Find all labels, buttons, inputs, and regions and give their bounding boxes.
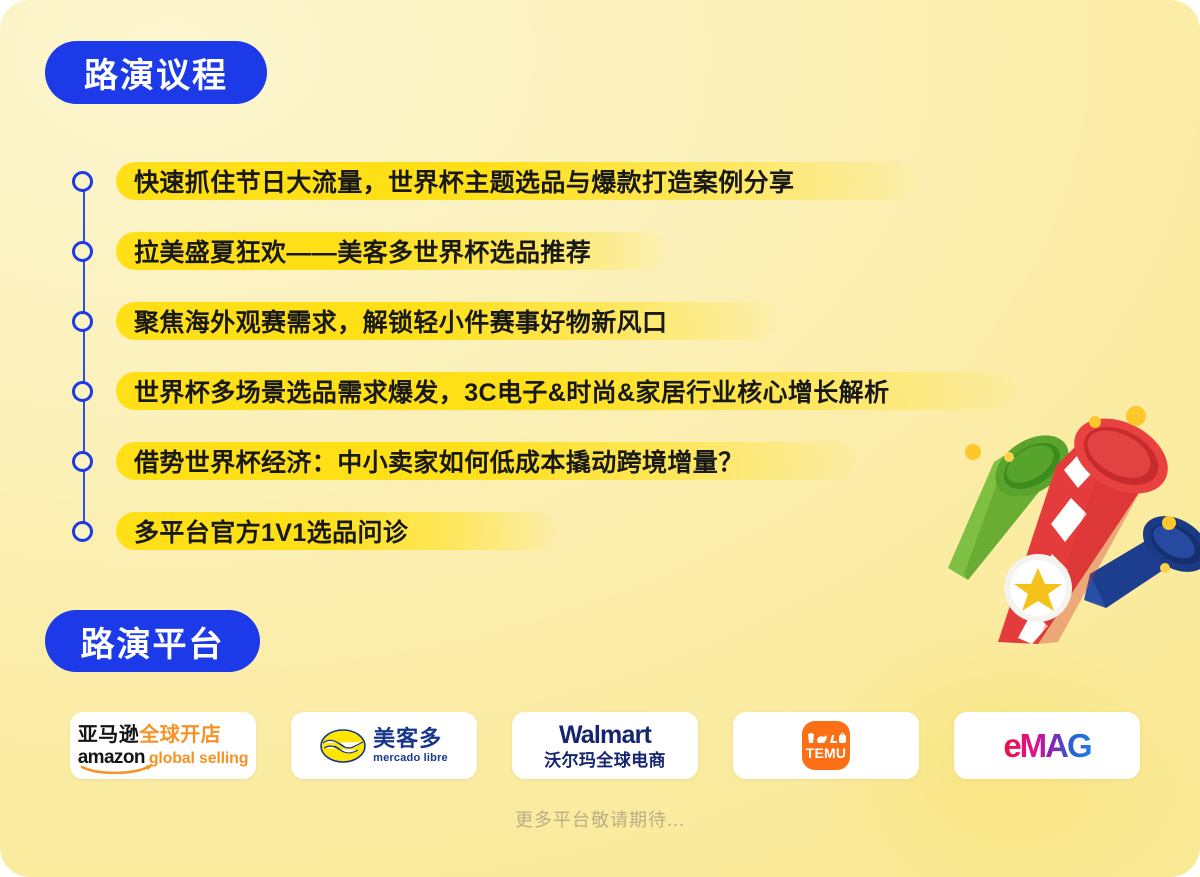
platform-card-temu[interactable]: TEMU	[733, 712, 919, 779]
agenda-item-bar: 拉美盛夏狂欢——美客多世界杯选品推荐	[116, 232, 609, 270]
agenda-item-label: 借势世界杯经济：中小卖家如何低成本撬动跨境增量？	[134, 443, 744, 479]
agenda-item-bar: 快速抓住节日大流量，世界杯主题选品与爆款打造案例分享	[116, 162, 812, 200]
timeline-dot-icon	[72, 311, 93, 332]
platform-card-walmart[interactable]: Walmart 沃尔玛全球电商	[512, 712, 698, 779]
timeline-dot-icon	[72, 451, 93, 472]
platform-logo-row: 亚马逊全球开店 amazon global selling	[70, 712, 1140, 779]
timeline-dot-icon	[72, 381, 93, 402]
emag-wordmark: eMAG	[1003, 729, 1090, 762]
platform-section-badge: 路演平台	[45, 610, 260, 672]
agenda-item-label: 拉美盛夏狂欢——美客多世界杯选品推荐	[134, 233, 591, 269]
walmart-logo: Walmart 沃尔玛全球电商	[544, 723, 666, 769]
agenda-item-label: 快速抓住节日大流量，世界杯主题选品与爆款打造案例分享	[134, 163, 794, 199]
agenda-item[interactable]: 世界杯多场景选品需求爆发，3C电子&时尚&家居行业核心增长解析	[72, 368, 1122, 414]
agenda-item[interactable]: 快速抓住节日大流量，世界杯主题选品与爆款打造案例分享	[72, 158, 1122, 204]
walmart-cn-label: 沃尔玛全球电商	[544, 752, 666, 769]
agenda-item-bar: 多平台官方1V1选品问诊	[116, 512, 426, 550]
temu-logo: TEMU	[802, 721, 850, 770]
agenda-item-bar: 聚焦海外观赛需求，解锁轻小件赛事好物新风口	[116, 302, 685, 340]
temu-glyphs-icon	[806, 732, 846, 745]
mercado-libre-cn-label: 美客多	[373, 728, 448, 750]
mercado-libre-en-label: mercado libre	[373, 753, 448, 764]
amazon-smile-icon	[80, 765, 154, 774]
platform-card-emag[interactable]: eMAG	[954, 712, 1140, 779]
agenda-item-bar: 世界杯多场景选品需求爆发，3C电子&时尚&家居行业核心增长解析	[116, 372, 907, 410]
agenda-item-label: 聚焦海外观赛需求，解锁轻小件赛事好物新风口	[134, 303, 667, 339]
walmart-wordmark: Walmart	[544, 723, 666, 748]
more-platforms-note: 更多平台敬请期待...	[0, 806, 1200, 832]
handshake-icon	[320, 729, 366, 763]
agenda-section-badge: 路演议程	[45, 41, 267, 104]
agenda-item[interactable]: 多平台官方1V1选品问诊	[72, 508, 1122, 554]
platform-card-mercado-libre[interactable]: 美客多 mercado libre	[291, 712, 477, 779]
platform-card-amazon-global-selling[interactable]: 亚马逊全球开店 amazon global selling	[70, 712, 256, 779]
temu-wordmark: TEMU	[806, 746, 846, 760]
agenda-timeline: 快速抓住节日大流量，世界杯主题选品与爆款打造案例分享拉美盛夏狂欢——美客多世界杯…	[0, 140, 1200, 560]
timeline-dot-icon	[72, 171, 93, 192]
amazon-cn-orange-label: 全球开店	[139, 724, 221, 746]
agenda-item-bar: 借势世界杯经济：中小卖家如何低成本撬动跨境增量？	[116, 442, 762, 480]
agenda-item-label: 世界杯多场景选品需求爆发，3C电子&时尚&家居行业核心增长解析	[134, 373, 889, 409]
amazon-cn-label: 亚马逊	[78, 724, 140, 746]
agenda-item[interactable]: 聚焦海外观赛需求，解锁轻小件赛事好物新风口	[72, 298, 1122, 344]
agenda-item[interactable]: 拉美盛夏狂欢——美客多世界杯选品推荐	[72, 228, 1122, 274]
timeline-dot-icon	[72, 521, 93, 542]
mercado-libre-logo: 美客多 mercado libre	[320, 728, 448, 764]
agenda-item-label: 多平台官方1V1选品问诊	[134, 513, 408, 549]
agenda-card: 路演议程 快速抓住节日大流量，世界杯主题选品与爆款打造案例分享拉美盛夏狂欢——美…	[0, 0, 1200, 877]
agenda-item[interactable]: 借势世界杯经济：中小卖家如何低成本撬动跨境增量？	[72, 438, 1122, 484]
amazon-global-selling-label: global selling	[149, 751, 248, 767]
amazon-global-selling-logo: 亚马逊全球开店 amazon global selling	[78, 725, 249, 767]
timeline-dot-icon	[72, 241, 93, 262]
